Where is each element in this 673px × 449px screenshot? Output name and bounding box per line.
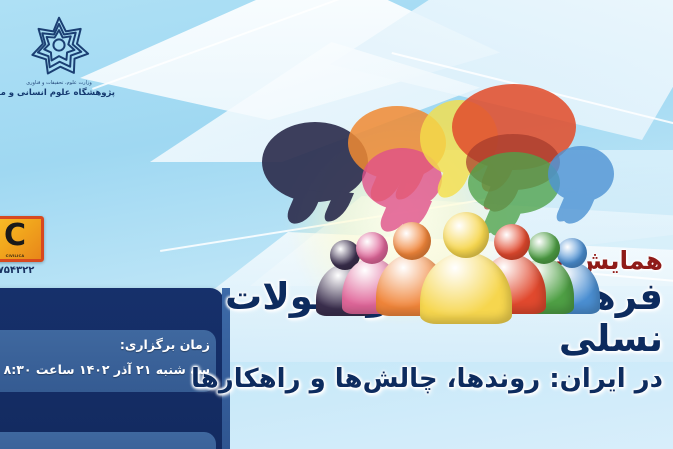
islamic-star-pattern-icon (28, 14, 90, 76)
person-yellow (420, 212, 512, 330)
badge-code: ۷۵۴۳۲۲ (0, 265, 44, 276)
person-yellow-head (443, 212, 489, 258)
person-yellow-body (420, 252, 512, 324)
conference-poster: وزارت علوم، تحقیقات و فناوری پژوهشگاه عل… (0, 0, 673, 449)
title-subtitle: در ایران: روندها، چالش‌ها و راهکارها (143, 364, 663, 395)
secondary-inner-box (0, 432, 216, 449)
badge-glyph: C (0, 219, 41, 259)
badge-caption: CIVILICA (0, 254, 41, 258)
institution-logo: وزارت علوم، تحقیقات و فناوری پژوهشگاه عل… (3, 14, 115, 98)
logo-ministry-line: وزارت علوم، تحقیقات و فناوری (3, 80, 115, 86)
civilica-badge-block: C CIVILICA ۷۵۴۳۲۲ (0, 216, 44, 276)
civilica-c-icon: C CIVILICA (0, 216, 44, 262)
logo-institute-line: پژوهشگاه علوم انسانی و مطالعات فرهنگی (3, 88, 115, 98)
bubble-green-icon (468, 152, 560, 214)
bubble-blue-icon (548, 146, 614, 202)
